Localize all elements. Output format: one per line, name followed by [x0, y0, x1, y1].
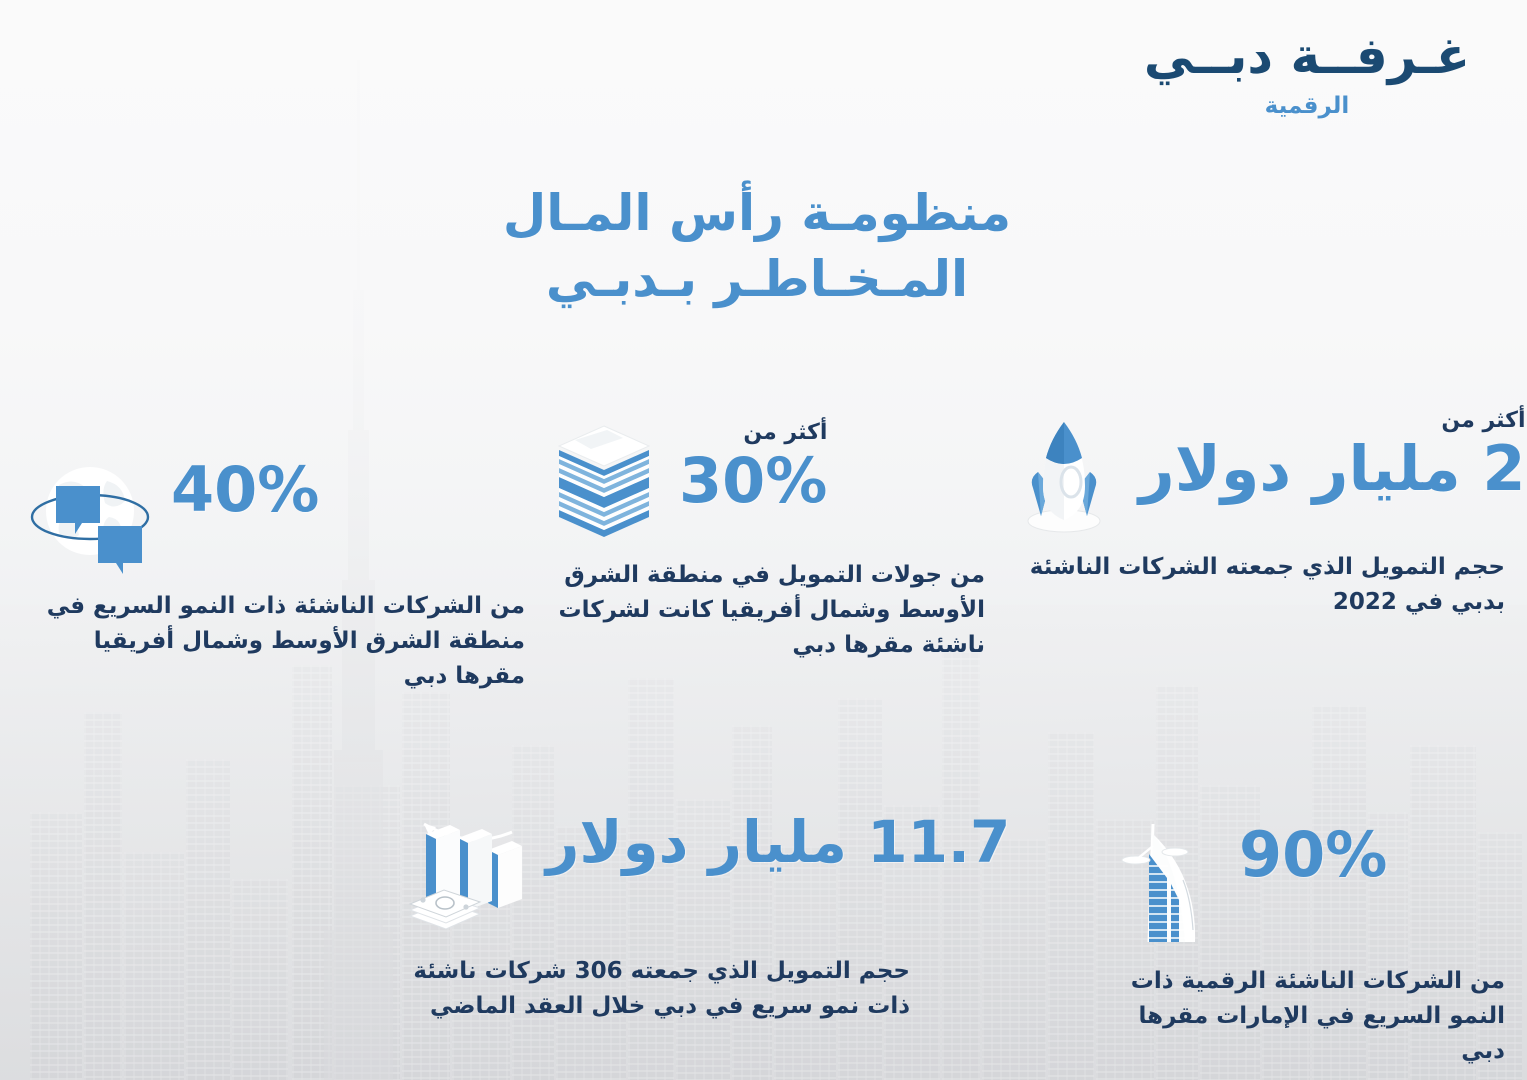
stat-block-decade-funding: 11.7 مليار دولار: [400, 810, 910, 1024]
stat-description: من الشركات الناشئة الرقمية ذات النمو الس…: [1105, 964, 1505, 1069]
dubai-chamber-logo: غـرفــة دبــي الرقمية: [1127, 30, 1487, 119]
stat-eyebrow: أكثر من: [679, 420, 827, 446]
stat-value: 90%: [1239, 822, 1387, 887]
page-title-line-2: المـخـاطـر بـدبـي: [467, 246, 1047, 312]
stat-description: من جولات التمويل في منطقة الشرق الأوسط و…: [545, 558, 985, 663]
stat-value: 11.7 مليار دولار: [546, 812, 1010, 873]
stat-block-uae-digital-startups: 90%: [1105, 820, 1505, 1069]
stat-value: 30%: [679, 448, 827, 513]
infographic-poster: غـرفــة دبــي الرقمية منظومـة رأس المـال…: [0, 0, 1527, 1080]
logo-sub-text: الرقمية: [1127, 93, 1487, 119]
stacked-layers-icon: [545, 420, 663, 548]
page-title: منظومـة رأس المـال المـخـاطـر بـدبـي: [467, 180, 1047, 312]
stat-description: من الشركات الناشئة ذات النمو السريع في م…: [25, 589, 525, 694]
stat-value: 2 مليار دولار: [1139, 436, 1526, 501]
stat-block-funding-2022: أكثر من 2 مليار دولار ح: [1005, 408, 1505, 620]
stat-description: حجم التمويل الذي جمعته 306 شركات ناشئة ذ…: [400, 954, 910, 1024]
globe-chat-icon: [25, 455, 155, 579]
stat-description: حجم التمويل الذي جمعته الشركات الناشئة ب…: [1005, 550, 1505, 620]
rocket-icon: [1005, 408, 1123, 540]
burj-al-arab-icon: [1105, 820, 1223, 954]
stat-eyebrow: أكثر من: [1139, 408, 1526, 434]
bar-chart-money-icon: [400, 810, 530, 944]
stat-block-mena-startups-share: 40% من ا: [25, 455, 525, 694]
logo-main-text: غـرفــة دبــي: [1127, 30, 1487, 83]
stat-value: 40%: [171, 457, 319, 522]
stat-block-funding-rounds-share: أكثر من 30%: [545, 420, 985, 663]
page-title-line-1: منظومـة رأس المـال: [467, 180, 1047, 246]
